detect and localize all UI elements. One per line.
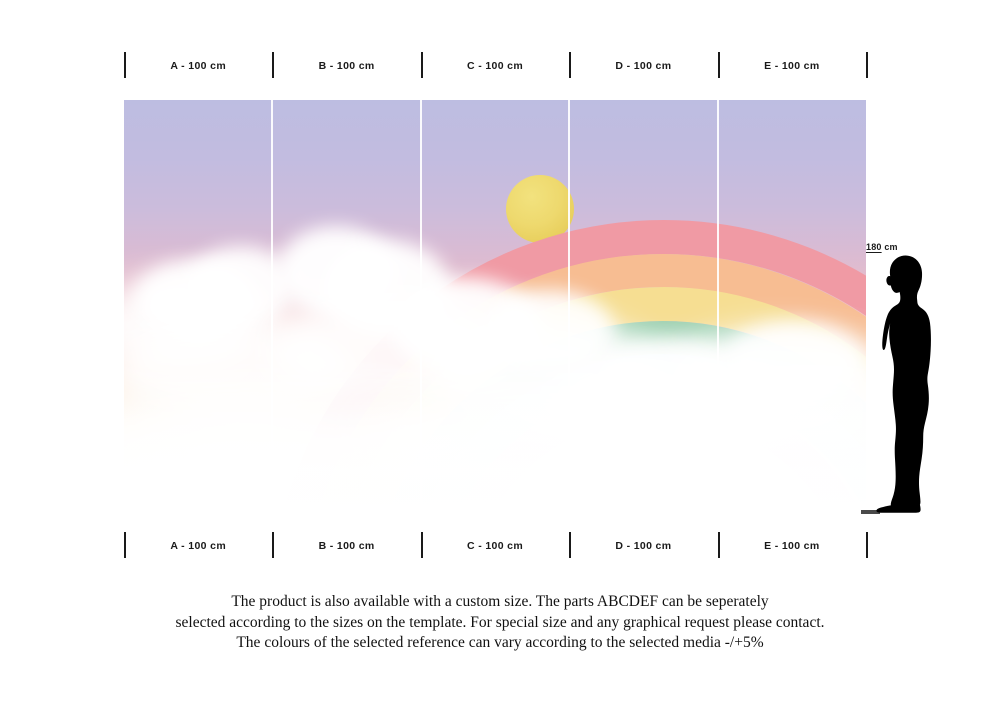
ruler-segment-e: E - 100 cm xyxy=(718,52,866,80)
ruler-bottom: A - 100 cm B - 100 cm C - 100 cm D - 100… xyxy=(124,532,866,560)
ruler-tick-icon xyxy=(718,532,720,558)
ruler-segment-b: B - 100 cm xyxy=(272,52,420,80)
height-marker-label: 180 cm xyxy=(866,242,898,252)
ruler-tick-icon xyxy=(569,52,571,78)
ruler-segment-label: C - 100 cm xyxy=(467,540,523,552)
ruler-segment-a: A - 100 cm xyxy=(124,532,272,560)
height-marker-value: 180 xyxy=(866,242,882,252)
ruler-segment-label: A - 100 cm xyxy=(170,60,226,72)
ruler-segment-label: A - 100 cm xyxy=(170,540,226,552)
ruler-segment-c: C - 100 cm xyxy=(421,52,569,80)
ruler-tick-icon xyxy=(272,52,274,78)
human-scale-figure-icon xyxy=(876,255,934,513)
ruler-tick-icon xyxy=(569,532,571,558)
ruler-segment-e: E - 100 cm xyxy=(718,532,866,560)
ruler-tick-icon xyxy=(124,52,126,78)
footer-note-line-2: selected according to the sizes on the t… xyxy=(0,613,1000,634)
ruler-segment-label: B - 100 cm xyxy=(319,540,375,552)
ruler-segment-a: A - 100 cm xyxy=(124,52,272,80)
ruler-segment-label: B - 100 cm xyxy=(319,60,375,72)
ruler-tick-icon xyxy=(421,52,423,78)
ruler-tick-icon xyxy=(272,532,274,558)
artwork-panel xyxy=(124,100,866,512)
ruler-top: A - 100 cm B - 100 cm C - 100 cm D - 100… xyxy=(124,52,866,80)
footer-note-line-1: The product is also available with a cus… xyxy=(0,592,1000,613)
ruler-tick-icon xyxy=(866,532,868,558)
ruler-segment-d: D - 100 cm xyxy=(569,52,717,80)
ruler-tick-icon xyxy=(124,532,126,558)
ruler-segment-d: D - 100 cm xyxy=(569,532,717,560)
ruler-tick-icon xyxy=(718,52,720,78)
ruler-segment-label: D - 100 cm xyxy=(615,60,671,72)
footer-note-line-3: The colours of the selected reference ca… xyxy=(0,633,1000,654)
ruler-segment-label: E - 100 cm xyxy=(764,60,819,72)
cloud-bottom-fade xyxy=(124,362,866,512)
height-marker-unit: cm xyxy=(882,242,898,252)
ruler-segment-c: C - 100 cm xyxy=(421,532,569,560)
footer-note: The product is also available with a cus… xyxy=(0,592,1000,654)
ruler-segment-label: E - 100 cm xyxy=(764,540,819,552)
ruler-tick-icon xyxy=(421,532,423,558)
ruler-segment-label: D - 100 cm xyxy=(615,540,671,552)
ruler-segment-b: B - 100 cm xyxy=(272,532,420,560)
ruler-tick-icon xyxy=(866,52,868,78)
ruler-segment-label: C - 100 cm xyxy=(467,60,523,72)
